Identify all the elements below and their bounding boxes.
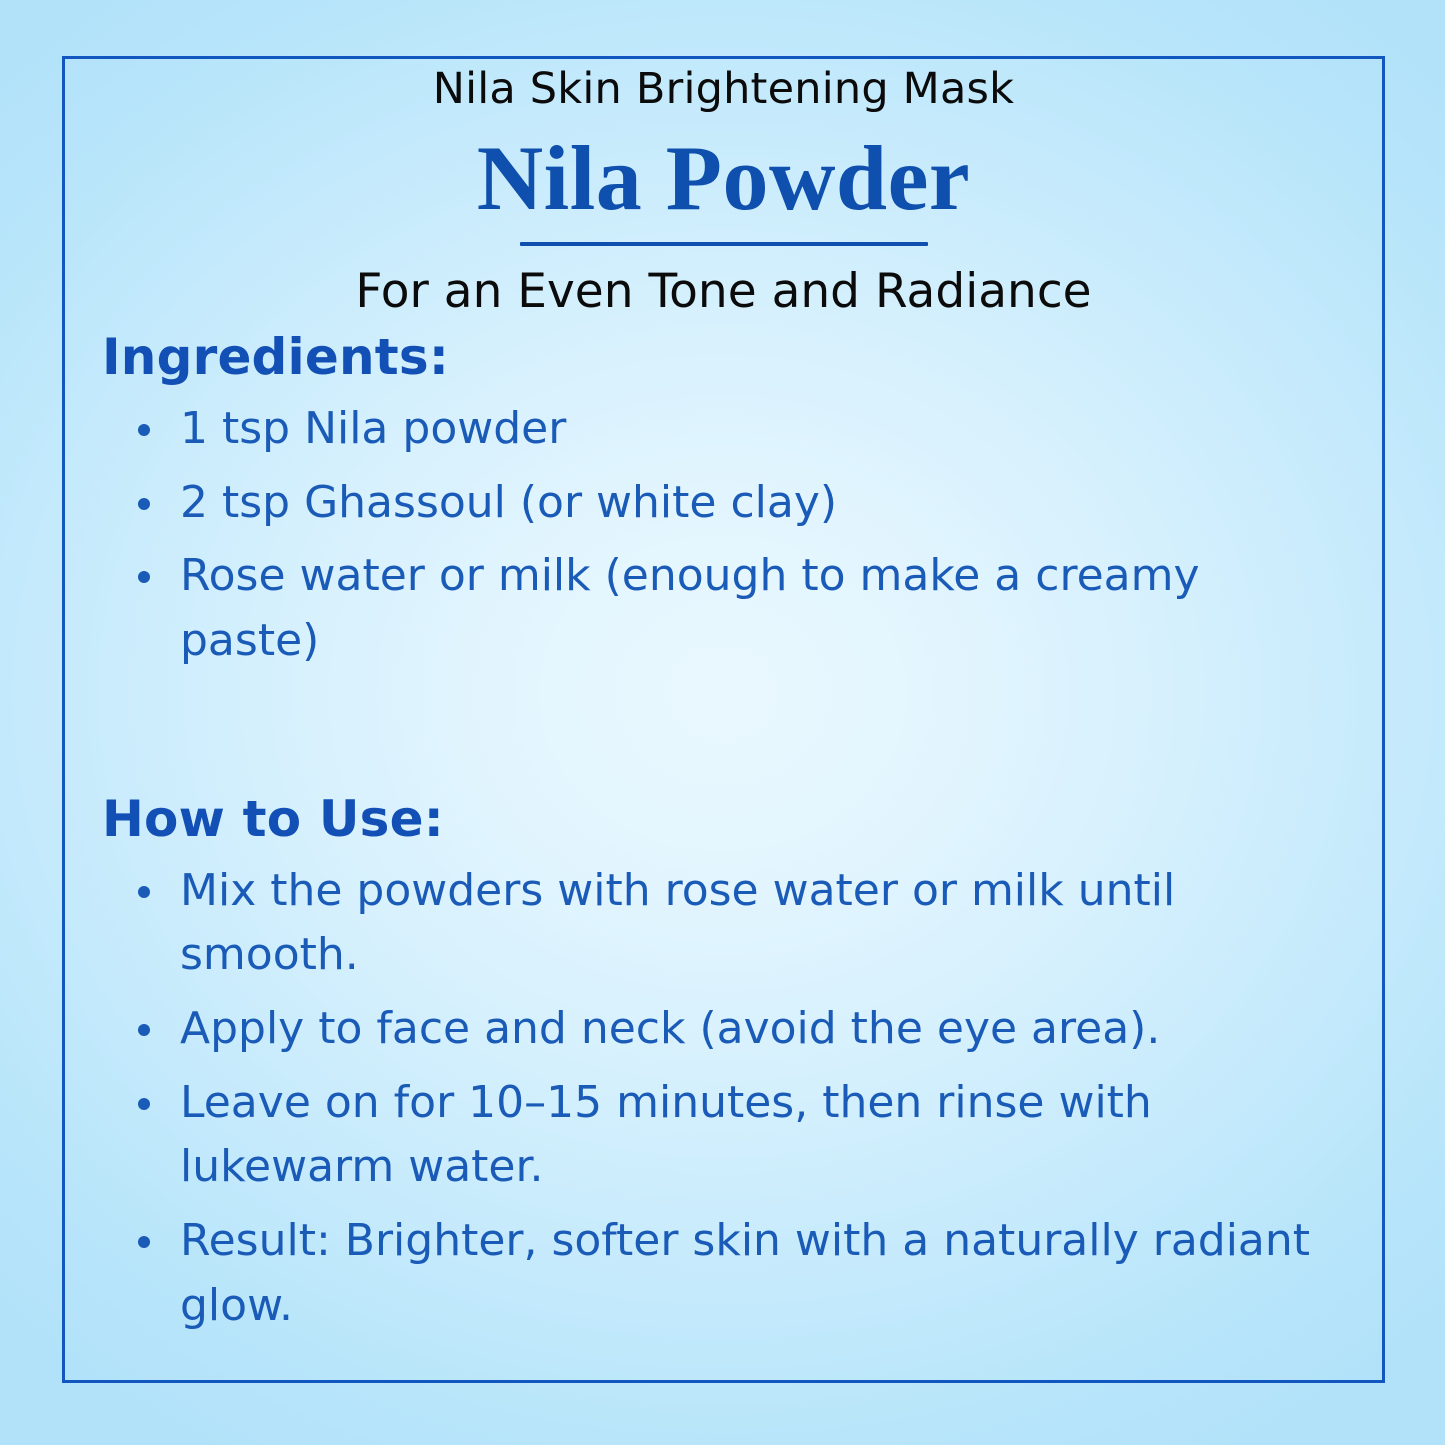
card-body: Ingredients: 1 tsp Nila powder 2 tsp Gha…	[62, 330, 1385, 1347]
list-item-label: 2 tsp Ghassoul (or white clay)	[180, 477, 837, 528]
bullet-dot-icon	[138, 498, 150, 510]
list-item: Mix the powders with rose water or milk …	[102, 859, 1345, 988]
recipe-card: Nila Skin Brightening Mask Nila Powder F…	[0, 0, 1445, 1445]
bullet-dot-icon	[138, 424, 150, 436]
bullet-dot-icon	[138, 1236, 150, 1248]
section-how-to-use: How to Use: Mix the powders with rose wa…	[102, 792, 1345, 1339]
list-item-label: Apply to face and neck (avoid the eye ar…	[180, 1003, 1160, 1054]
list-item: 1 tsp Nila powder	[102, 397, 1345, 462]
ingredients-list: 1 tsp Nila powder 2 tsp Ghassoul (or whi…	[102, 397, 1345, 674]
page-title: Nila Powder	[62, 127, 1385, 230]
list-item: Result: Brighter, softer skin with a nat…	[102, 1209, 1345, 1338]
list-item: Apply to face and neck (avoid the eye ar…	[102, 997, 1345, 1062]
how-to-use-list: Mix the powders with rose water or milk …	[102, 859, 1345, 1339]
list-item-label: Leave on for 10–15 minutes, then rinse w…	[180, 1077, 1152, 1193]
product-tagline: For an Even Tone and Radiance	[62, 268, 1385, 315]
bullet-dot-icon	[138, 571, 150, 583]
bullet-dot-icon	[138, 1024, 150, 1036]
product-eyebrow-text: Nila Skin Brightening Mask	[62, 56, 1385, 111]
section-ingredients: Ingredients: 1 tsp Nila powder 2 tsp Gha…	[102, 330, 1345, 674]
list-item-label: Result: Brighter, softer skin with a nat…	[180, 1215, 1310, 1331]
list-item: Rose water or milk (enough to make a cre…	[102, 544, 1345, 673]
list-item-label: Mix the powders with rose water or milk …	[180, 865, 1175, 981]
title-divider	[520, 242, 928, 246]
list-item: 2 tsp Ghassoul (or white clay)	[102, 471, 1345, 536]
bullet-dot-icon	[138, 1098, 150, 1110]
card-header: Nila Skin Brightening Mask Nila Powder F…	[62, 56, 1385, 315]
bullet-dot-icon	[138, 886, 150, 898]
list-item-label: Rose water or milk (enough to make a cre…	[180, 550, 1200, 666]
list-item-label: 1 tsp Nila powder	[180, 403, 566, 454]
section-heading-ingredients: Ingredients:	[102, 330, 1345, 385]
section-heading-how-to-use: How to Use:	[102, 792, 1345, 847]
list-item: Leave on for 10–15 minutes, then rinse w…	[102, 1071, 1345, 1200]
